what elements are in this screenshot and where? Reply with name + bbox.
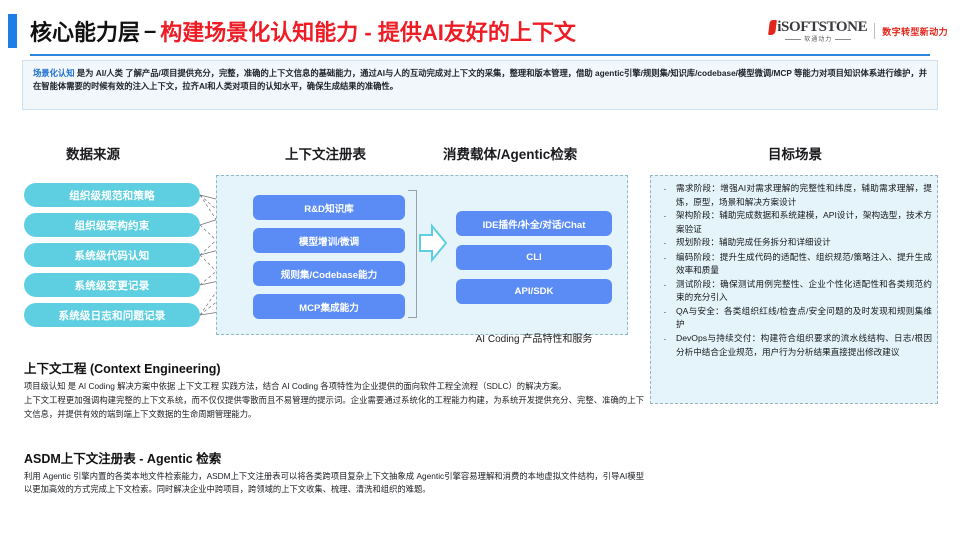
bullet-icon: ·: [660, 209, 670, 236]
list-item-text: QA与安全：各类组织红线/检查点/安全问题的及时发现和规则集维护: [676, 305, 932, 332]
list-item: · 编码阶段：提升生成代码的适配性、组织规范/策略注入、提升生成效率和质量: [660, 251, 932, 278]
section-title: 上下文工程 (Context Engineering): [24, 358, 644, 377]
logo-subname-row: 软通动力: [785, 37, 851, 43]
logo-rule-right: [835, 39, 851, 40]
page-title-primary: 核心能力层: [30, 15, 140, 47]
bullet-icon: ·: [660, 278, 670, 305]
header-underline: [30, 54, 930, 56]
list-item-text: 规划阶段：辅助完成任务拆分和详细设计: [676, 236, 932, 250]
footer-strip: [0, 535, 960, 540]
column-heading-targets: 目标场景: [768, 143, 822, 163]
section-paragraph: 上下文工程更加强调构建完整的上下文系统，而不仅仅提供零散而且不易管理的提示词。企…: [24, 394, 644, 421]
data-source-item[interactable]: 组织级规范和策略: [24, 183, 200, 207]
bullet-icon: ·: [660, 236, 670, 250]
column-heading-sources: 数据来源: [66, 143, 120, 163]
column-heading-consumers: 消费载体/Agentic检索: [443, 143, 577, 163]
target-scenario-list: · 需求阶段：增强AI对需求理解的完整性和纬度，辅助需求理解，提炼，原型，场景和…: [660, 182, 932, 359]
flow-arrow: [418, 222, 448, 264]
bullet-icon: ·: [660, 332, 670, 359]
bullet-icon: ·: [660, 182, 670, 209]
logo-divider: [874, 23, 875, 39]
list-item-text: 编码阶段：提升生成代码的适配性、组织规范/策略注入、提升生成效率和质量: [676, 251, 932, 278]
data-source-item[interactable]: 系统级代码认知: [24, 243, 200, 267]
consumer-item[interactable]: IDE插件/补全/对话/Chat: [456, 211, 612, 236]
registry-item[interactable]: MCP集成能力: [253, 294, 405, 319]
list-item: · 规划阶段：辅助完成任务拆分和详细设计: [660, 236, 932, 250]
grouping-bracket: [408, 190, 417, 318]
logo-wordmark: iSOFTSTONE: [777, 20, 867, 35]
list-item: · 架构阶段：辅助完成数据和系统建模，API设计，架构选型，技术方案验证: [660, 209, 932, 236]
logo-wordmark-group: iSOFTSTONE 软通动力: [769, 20, 867, 43]
data-source-item[interactable]: 系统级变更记录: [24, 273, 200, 297]
intro-paragraph: 场景化认知 是为 AI/人类 了解产品/项目提供充分，完整，准确的上下文信息的基…: [33, 67, 927, 94]
logo-main: iSOFTSTONE: [769, 20, 867, 35]
intro-body: 是为 AI/人类 了解产品/项目提供充分，完整，准确的上下文信息的基础能力，通过…: [33, 68, 927, 91]
section-paragraph: 项目级认知 是 AI Coding 解决方案中依据 上下文工程 实践方法，结合 …: [24, 380, 644, 393]
consumer-item[interactable]: API/SDK: [456, 279, 612, 304]
consumer-item[interactable]: CLI: [456, 245, 612, 270]
data-source-item[interactable]: 组织级架构约束: [24, 213, 200, 237]
page-title-dash: –: [144, 18, 156, 44]
list-item-text: 测试阶段：确保测试用例完整性、企业个性化适配性和各类规范约束的充分引入: [676, 278, 932, 305]
list-item-text: 需求阶段：增强AI对需求理解的完整性和纬度，辅助需求理解，提炼，原型，场景和解决…: [676, 182, 932, 209]
registry-list: R&D知识库 模型增训/微调 规则集/Codebase能力 MCP集成能力: [253, 195, 405, 327]
logo-slogan: 数字转型新动力: [882, 25, 948, 38]
list-item: · 测试阶段：确保测试用例完整性、企业个性化适配性和各类规范约束的充分引入: [660, 278, 932, 305]
section-paragraph: 利用 Agentic 引擎内置的各类本地文件检索能力，ASDM上下文注册表可以将…: [24, 470, 644, 497]
list-item: · QA与安全：各类组织红线/检查点/安全问题的及时发现和规则集维护: [660, 305, 932, 332]
bullet-icon: ·: [660, 305, 670, 332]
list-item: · 需求阶段：增强AI对需求理解的完整性和纬度，辅助需求理解，提炼，原型，场景和…: [660, 182, 932, 209]
page-title: 核心能力层 – 构建场景化认知能力 - 提供AI友好的上下文: [30, 14, 576, 48]
list-item: · DevOps与持续交付：构建符合组织要求的流水线结构、日志/根因分析中结合企…: [660, 332, 932, 359]
list-item-text: DevOps与持续交付：构建符合组织要求的流水线结构、日志/根因分析中结合企业规…: [676, 332, 932, 359]
brand-logo: iSOFTSTONE 软通动力 数字转型新动力: [769, 14, 948, 48]
intro-callout: 场景化认知 是为 AI/人类 了解产品/项目提供充分，完整，准确的上下文信息的基…: [22, 60, 938, 110]
slide-root: 核心能力层 – 构建场景化认知能力 - 提供AI友好的上下文 iSOFTSTON…: [0, 0, 960, 540]
section-title: ASDM上下文注册表 - Agentic 检索: [24, 448, 644, 467]
logo-rule-left: [785, 39, 801, 40]
consumer-list: IDE插件/补全/对话/Chat CLI API/SDK: [456, 211, 612, 313]
registry-item[interactable]: 规则集/Codebase能力: [253, 261, 405, 286]
flame-icon: [768, 20, 777, 35]
consumer-caption: AI Coding 产品特性和服务: [456, 330, 612, 345]
header-accent-bar: [8, 14, 17, 48]
bullet-icon: ·: [660, 251, 670, 278]
column-heading-registry: 上下文注册表: [285, 143, 366, 163]
registry-item[interactable]: 模型增训/微调: [253, 228, 405, 253]
section-asdm-registry: ASDM上下文注册表 - Agentic 检索 利用 Agentic 引擎内置的…: [24, 448, 644, 498]
registry-item[interactable]: R&D知识库: [253, 195, 405, 220]
logo-cn-name: 软通动力: [804, 37, 832, 43]
intro-keyword: 场景化认知: [33, 68, 75, 78]
section-context-engineering: 上下文工程 (Context Engineering) 项目级认知 是 AI C…: [24, 358, 644, 422]
list-item-text: 架构阶段：辅助完成数据和系统建模，API设计，架构选型，技术方案验证: [676, 209, 932, 236]
page-title-secondary: 构建场景化认知能力 - 提供AI友好的上下文: [160, 15, 576, 47]
data-source-list: 组织级规范和策略 组织级架构约束 系统级代码认知 系统级变更记录 系统级日志和问…: [24, 183, 200, 333]
data-source-item[interactable]: 系统级日志和问题记录: [24, 303, 200, 327]
